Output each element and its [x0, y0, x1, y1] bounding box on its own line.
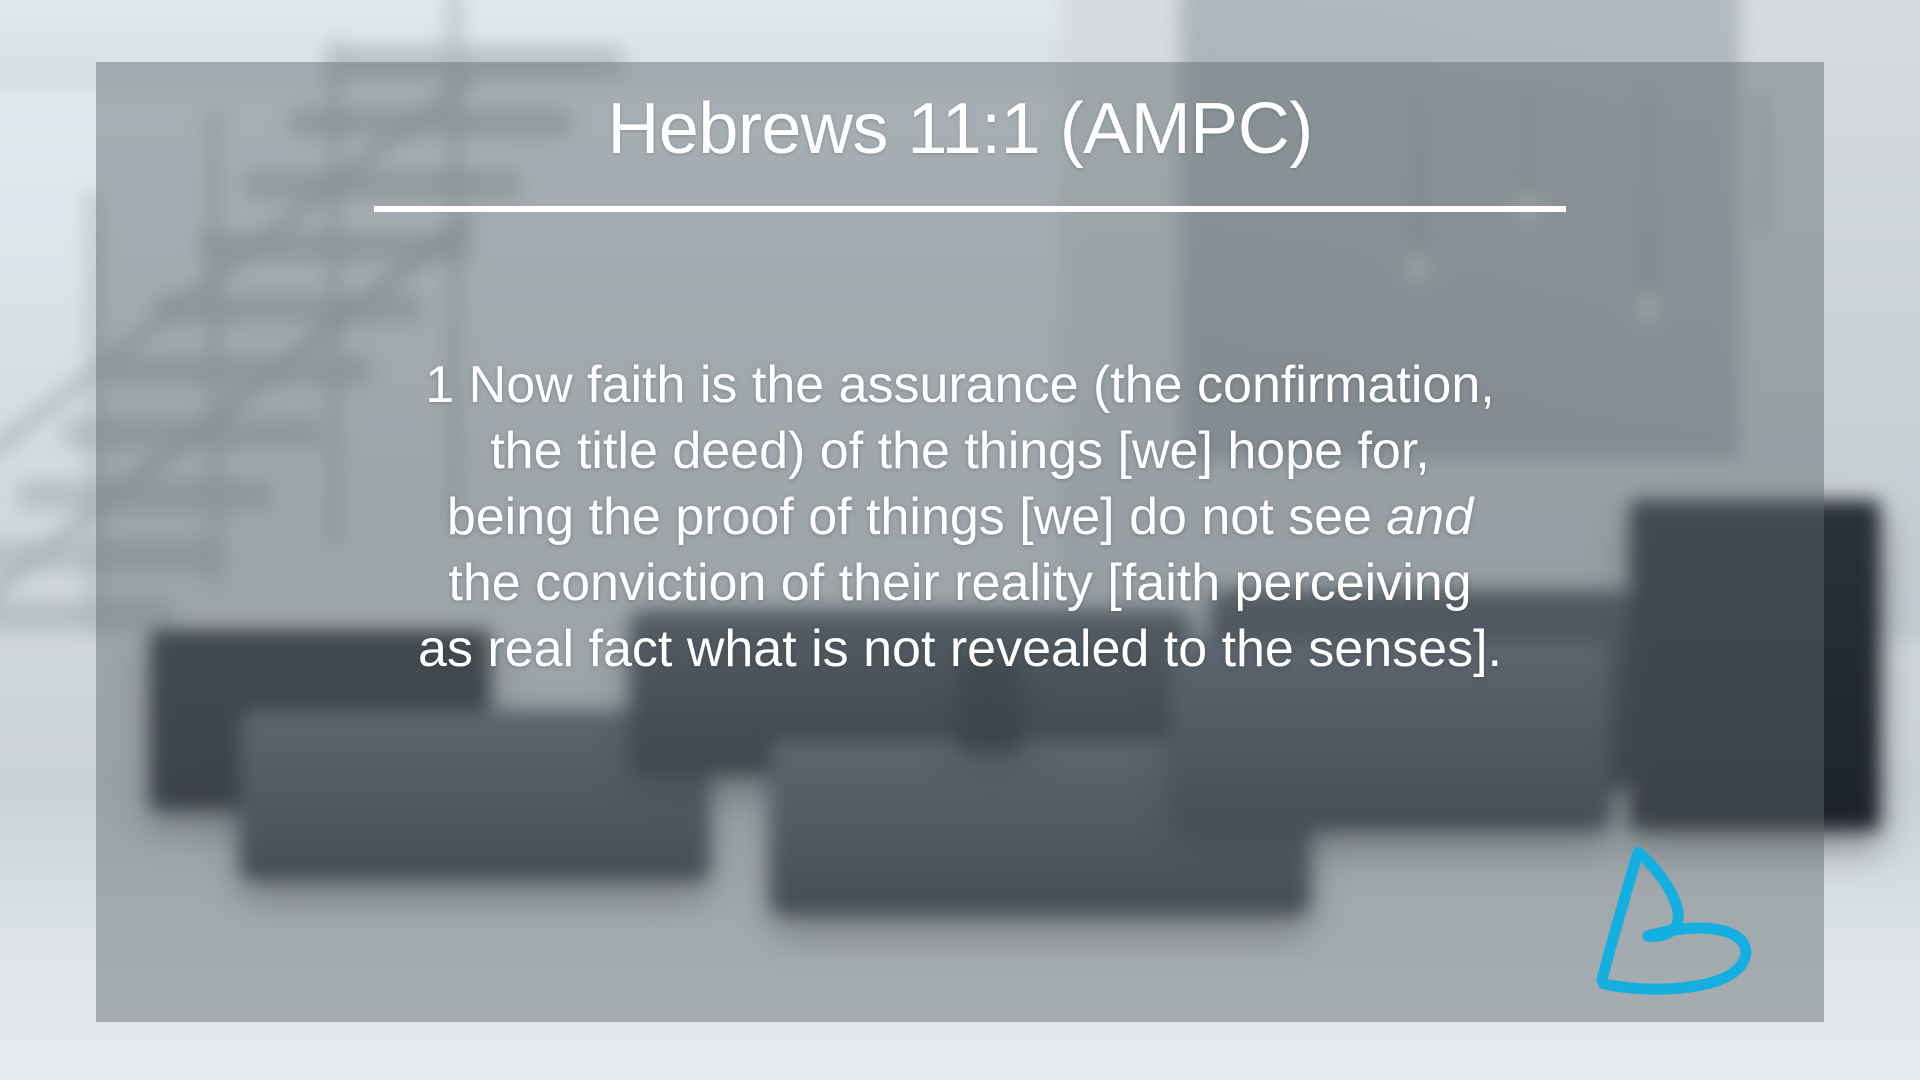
- verse-line-3: being the proof of things [we] do not se…: [447, 488, 1387, 546]
- verse-line-4: the conviction of their reality [faith p…: [448, 554, 1471, 612]
- title-divider: [374, 206, 1566, 212]
- verse-text: 1 Now faith is the assurance (the confir…: [96, 352, 1824, 682]
- slide-canvas: Hebrews 11:1 (AMPC) 1 Now faith is the a…: [0, 0, 1920, 1080]
- brand-logo[interactable]: [1582, 828, 1762, 998]
- verse-line-1: 1 Now faith is the assurance (the confir…: [425, 356, 1494, 414]
- page-title: Hebrews 11:1 (AMPC): [96, 90, 1824, 169]
- verse-line-5: as real fact what is not revealed to the…: [418, 620, 1502, 678]
- verse-line-2: the title deed) of the things [we] hope …: [490, 422, 1430, 480]
- verse-italic-word: and: [1386, 488, 1473, 546]
- slide-content: Hebrews 11:1 (AMPC) 1 Now faith is the a…: [96, 62, 1824, 1022]
- brand-b-icon: [1582, 828, 1762, 998]
